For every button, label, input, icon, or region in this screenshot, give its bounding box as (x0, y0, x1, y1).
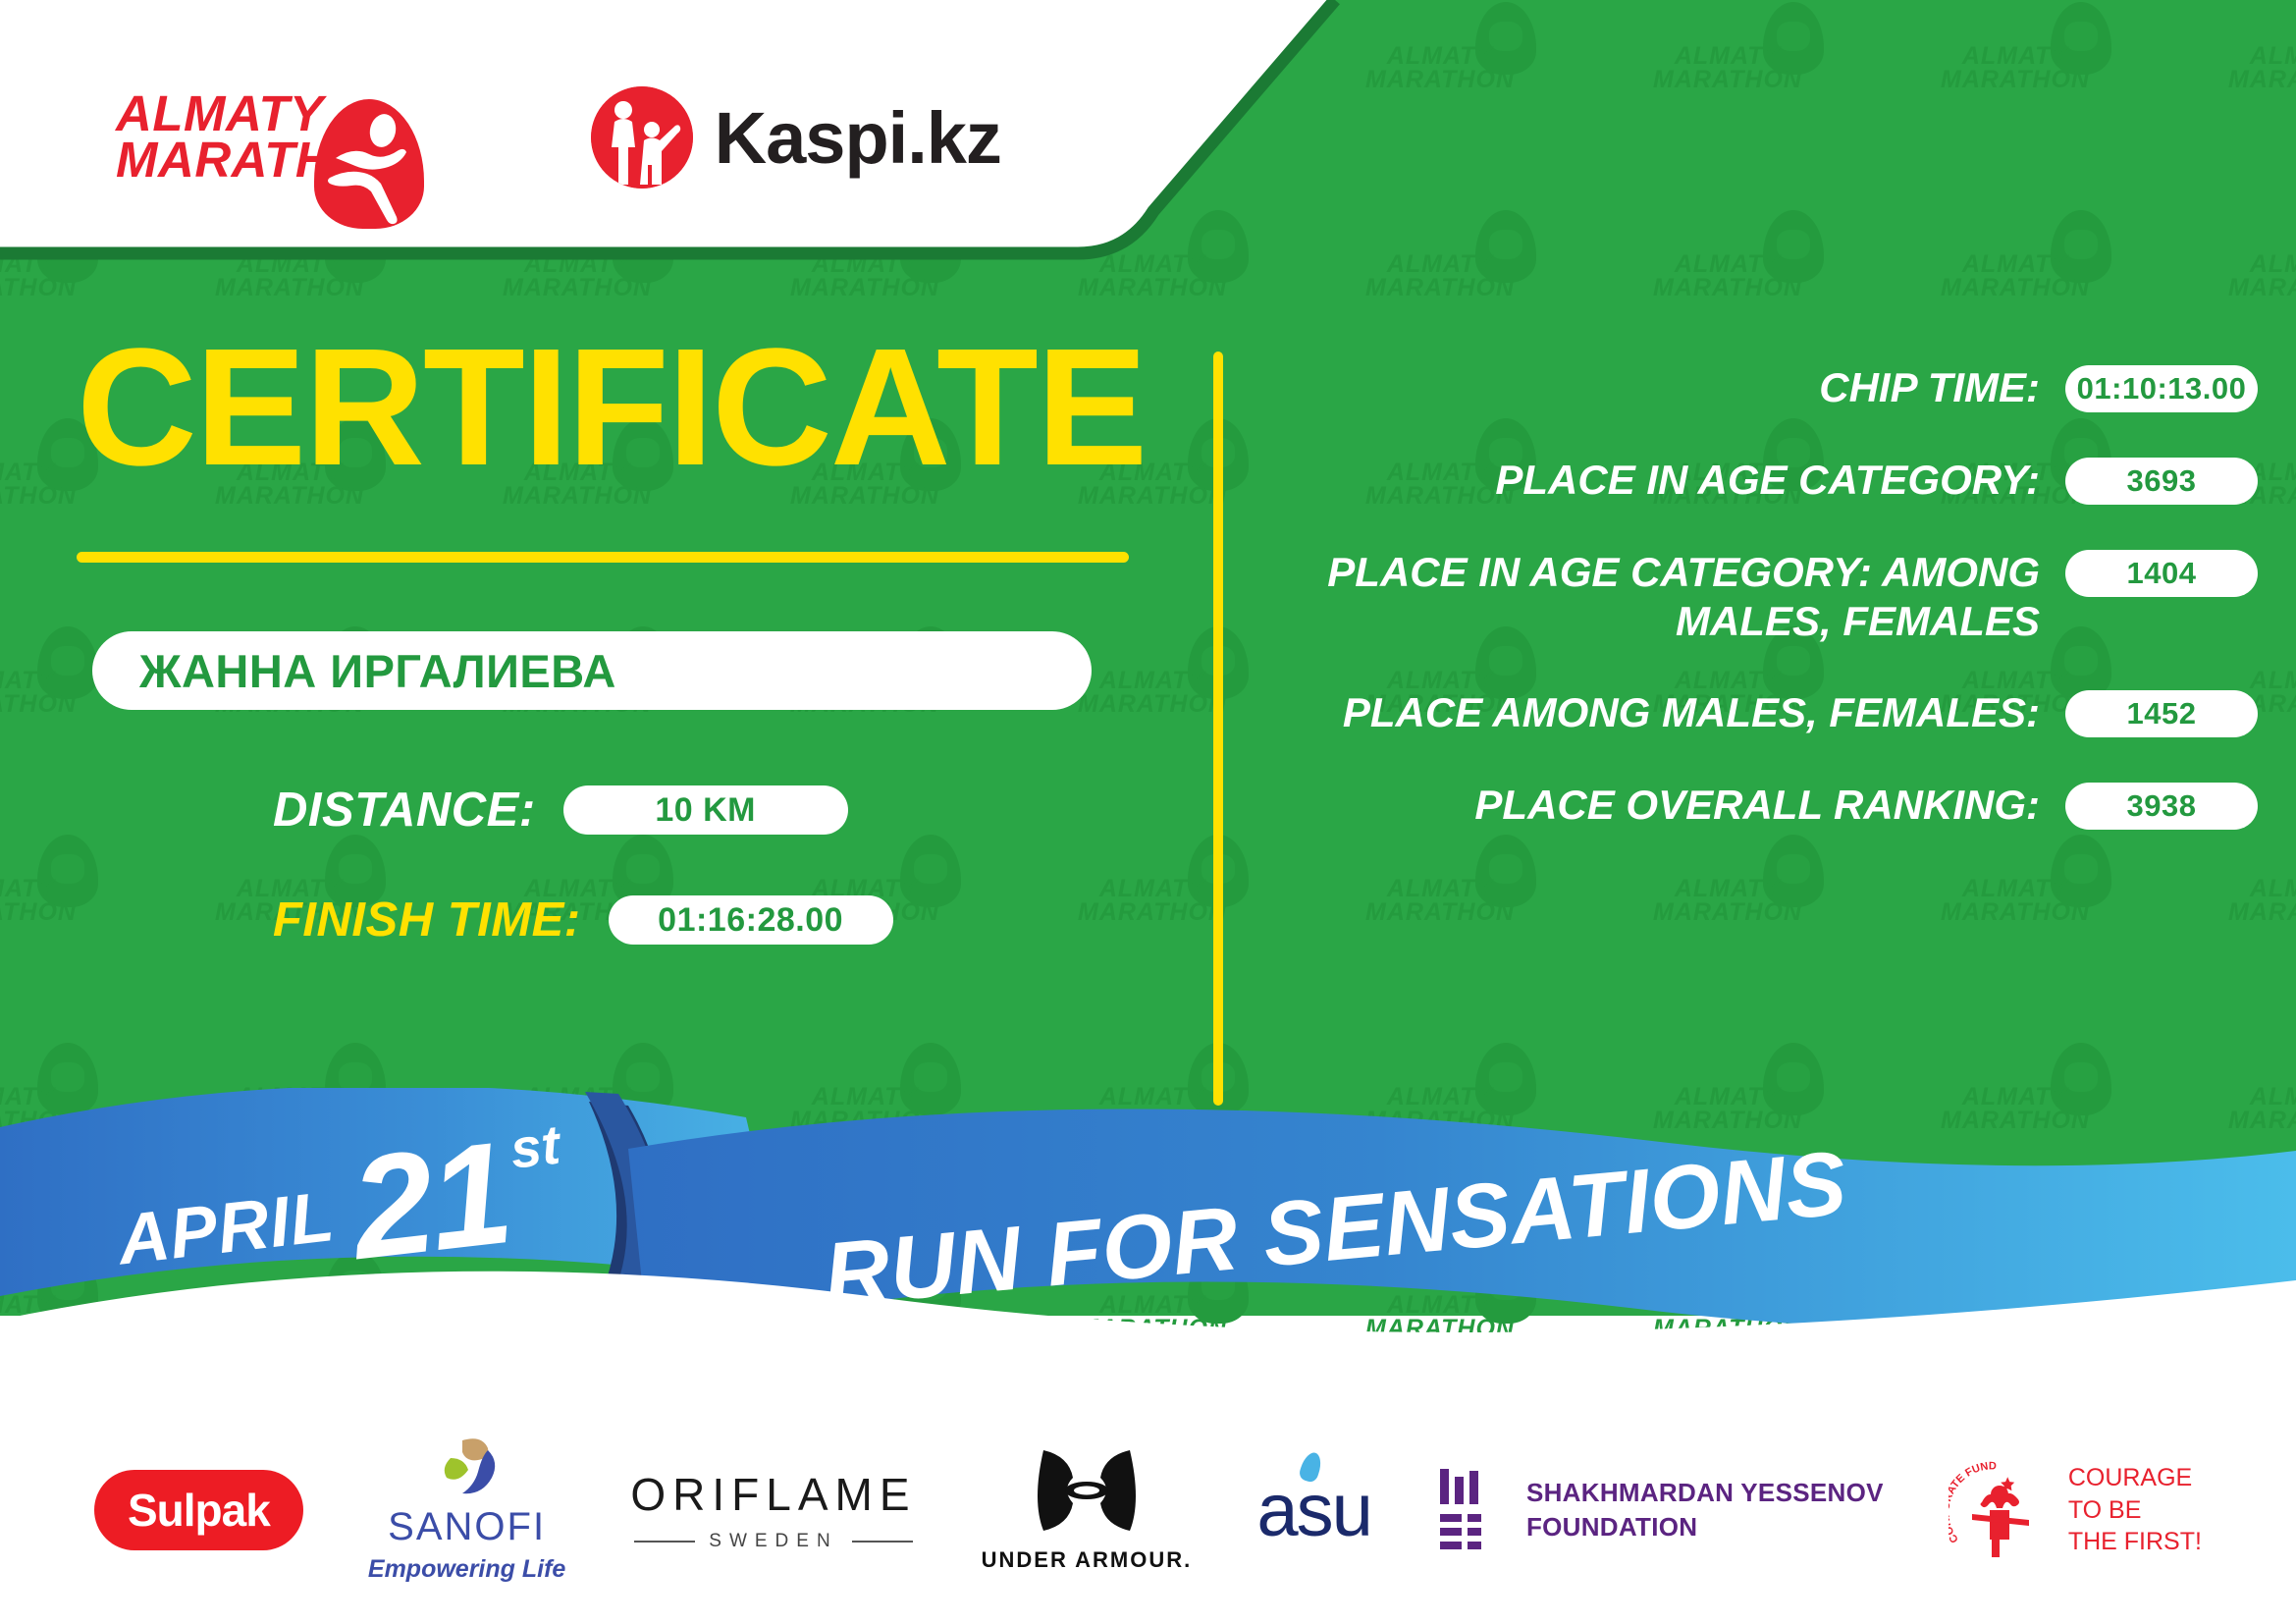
result-value-field: 3938 (2065, 783, 2258, 830)
detail-row: FINISH TIME:01:16:28.00 (273, 893, 1207, 947)
result-value: 3938 (2127, 788, 2197, 824)
result-value-field: 01:10:13.00 (2065, 365, 2258, 412)
left-detail-rows: DISTANCE:10 KMFINISH TIME:01:16:28.00 (0, 783, 1207, 947)
detail-value: 01:16:28.00 (658, 901, 843, 940)
certificate-page: ALMATYMARATHONALMATYMARATHONALMATYMARATH… (0, 0, 2296, 1624)
result-value: 1404 (2127, 556, 2197, 591)
participant-name-field: ЖАННА ИРГАЛИЕВА (92, 631, 1092, 710)
result-label: PLACE OVERALL RANKING: (1276, 781, 2040, 830)
result-label: CHIP TIME: (1276, 363, 2040, 412)
watermark-text: ALMATYMARATHON (2228, 878, 2296, 925)
title-divider (77, 552, 1129, 563)
under-armour-wordmark: UNDER ARMOUR. (982, 1547, 1193, 1573)
watermark-text: ALMATYMARATHON (1653, 253, 1802, 300)
sanofi-mark-icon (431, 1436, 504, 1497)
oriflame-rule-left (634, 1541, 695, 1543)
sulpak-wordmark: Sulpak (128, 1484, 270, 1537)
courage-line2: TO BE (2068, 1494, 2202, 1527)
courage-line3: THE FIRST! (2068, 1526, 2202, 1558)
left-column: CERTIFICATE ЖАННА ИРГАЛИЕВА DISTANCE:10 … (0, 324, 1207, 1002)
result-row: PLACE IN AGE CATEGORY: AMONG MALES, FEMA… (1276, 548, 2258, 645)
watermark-text: ALMATYMARATHON (2228, 45, 2296, 92)
under-armour-mark-icon (1036, 1448, 1138, 1538)
oriflame-rule-right (852, 1541, 913, 1543)
result-row: PLACE IN AGE CATEGORY:3693 (1276, 456, 2258, 505)
watermark-text: ALMATYMARATHON (1941, 45, 2090, 92)
result-label: PLACE IN AGE CATEGORY: AMONG MALES, FEMA… (1276, 548, 2040, 645)
result-row: PLACE OVERALL RANKING:3938 (1276, 781, 2258, 830)
kaspi-logo: Kaspi.kz (591, 86, 1001, 189)
detail-label: FINISH TIME: (273, 893, 581, 947)
oriflame-wordmark: ORIFLAME (630, 1468, 916, 1521)
runner-droplet-icon (314, 99, 424, 229)
result-value-field: 1404 (2065, 550, 2258, 597)
yessenov-wordmark-line1: SHAKHMARDAN YESSENOV (1526, 1476, 1884, 1510)
detail-row: DISTANCE:10 KM (273, 783, 1207, 838)
vertical-divider (1213, 352, 1223, 1106)
result-value: 1452 (2127, 696, 2197, 731)
sponsor-logo-yessenov: SHAKHMARDAN YESSENOV FOUNDATION (1436, 1469, 1884, 1551)
event-day: 21 (347, 1131, 515, 1272)
sponsor-strip: Sulpak SANOFI Empowering Life ORIFLAME S… (0, 1422, 2296, 1598)
detail-label: DISTANCE: (273, 783, 536, 838)
detail-value: 10 KM (655, 791, 756, 830)
header-logos: ALMATY MARATHON (0, 0, 1178, 275)
participant-name-value: ЖАННА ИРГАЛИЕВА (139, 644, 616, 698)
detail-value-field: 01:16:28.00 (609, 895, 893, 945)
sponsor-logo-sanofi: SANOFI Empowering Life (368, 1436, 565, 1584)
watermark-text: ALMATYMARATHON (1941, 878, 2090, 925)
courage-runner-icon: CORPORATE FUND (1949, 1459, 2051, 1561)
yessenov-wordmark-line2: FOUNDATION (1526, 1510, 1884, 1544)
result-value-field: 1452 (2065, 690, 2258, 737)
watermark-text: ALMATYMARATHON (1365, 878, 1515, 925)
sanofi-wordmark: SANOFI (388, 1505, 546, 1549)
watermark-text: ALMATYMARATHON (1653, 45, 1802, 92)
result-value: 3693 (2127, 463, 2197, 499)
kaspi-people-circle-icon (591, 86, 693, 189)
result-value: 01:10:13.00 (2077, 371, 2247, 406)
sponsor-logo-under-armour: UNDER ARMOUR. (982, 1448, 1193, 1573)
results-column: CHIP TIME:01:10:13.00PLACE IN AGE CATEGO… (1276, 363, 2258, 873)
yessenov-mark-icon (1436, 1469, 1501, 1551)
oriflame-subtext: SWEDEN (709, 1531, 837, 1552)
kaspi-wordmark: Kaspi.kz (715, 96, 1001, 180)
result-row: PLACE AMONG MALES, FEMALES:1452 (1276, 688, 2258, 737)
sponsor-logo-asu: asu (1256, 1468, 1371, 1553)
watermark-text: ALMATYMARATHON (1653, 878, 1802, 925)
sponsor-logo-sulpak: Sulpak (94, 1470, 303, 1550)
courage-line1: COURAGE (2068, 1462, 2202, 1494)
almaty-marathon-logo: ALMATY MARATHON (116, 91, 408, 184)
page-title: CERTIFICATE (0, 324, 1207, 491)
sponsor-logo-oriflame: ORIFLAME SWEDEN (630, 1468, 916, 1552)
result-row: CHIP TIME:01:10:13.00 (1276, 363, 2258, 412)
detail-value-field: 10 KM (563, 785, 848, 835)
sponsor-logo-courage-fund: CORPORATE FUND COURAGE TO BE THE FIRST! (1949, 1459, 2202, 1561)
result-value-field: 3693 (2065, 458, 2258, 505)
watermark-text: ALMATYMARATHON (1941, 253, 2090, 300)
result-label: PLACE IN AGE CATEGORY: (1276, 456, 2040, 505)
sanofi-tagline: Empowering Life (368, 1555, 565, 1584)
result-label: PLACE AMONG MALES, FEMALES: (1276, 688, 2040, 737)
watermark-text: ALMATYMARATHON (2228, 253, 2296, 300)
